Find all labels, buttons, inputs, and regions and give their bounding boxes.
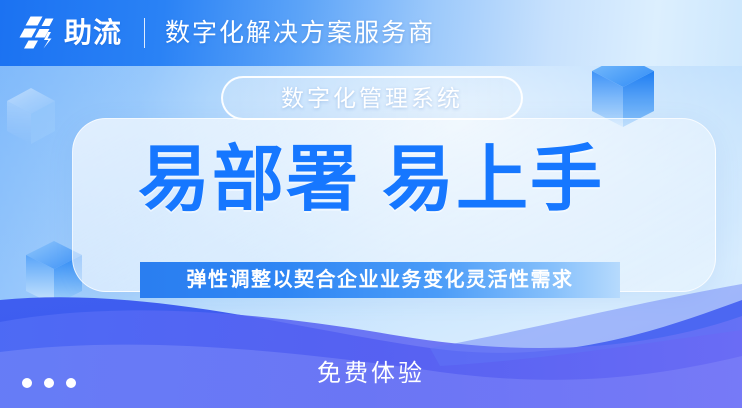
carousel-indicators[interactable]: [22, 378, 76, 388]
system-badge-label: 数字化管理系统: [281, 87, 463, 110]
header-divider: [144, 18, 145, 48]
header-bar: 助流 数字化解决方案服务商: [0, 0, 742, 66]
promo-banner: 助流 数字化解决方案服务商 数字化管理系统 易部署 易上手 弹性调整以契合企业业…: [0, 0, 742, 408]
carousel-dot-2[interactable]: [44, 378, 54, 388]
cube-3d-top-left: [4, 86, 58, 148]
zhuliu-lightning-logo-icon[interactable]: [18, 13, 58, 53]
brand-name: 助流: [64, 19, 122, 47]
carousel-dot-3[interactable]: [66, 378, 76, 388]
header-tagline: 数字化解决方案服务商: [165, 21, 435, 46]
hero-headline: 易部署 易上手: [0, 142, 742, 220]
carousel-dot-1[interactable]: [22, 378, 32, 388]
system-badge: 数字化管理系统: [221, 76, 523, 120]
header-content: 助流 数字化解决方案服务商: [18, 0, 435, 66]
hero-tagline-label: 弹性调整以契合企业业务变化灵活性需求: [187, 270, 574, 290]
free-trial-cta[interactable]: 免费体验: [0, 362, 742, 386]
hero-tagline-bar: 弹性调整以契合企业业务变化灵活性需求: [140, 262, 620, 298]
